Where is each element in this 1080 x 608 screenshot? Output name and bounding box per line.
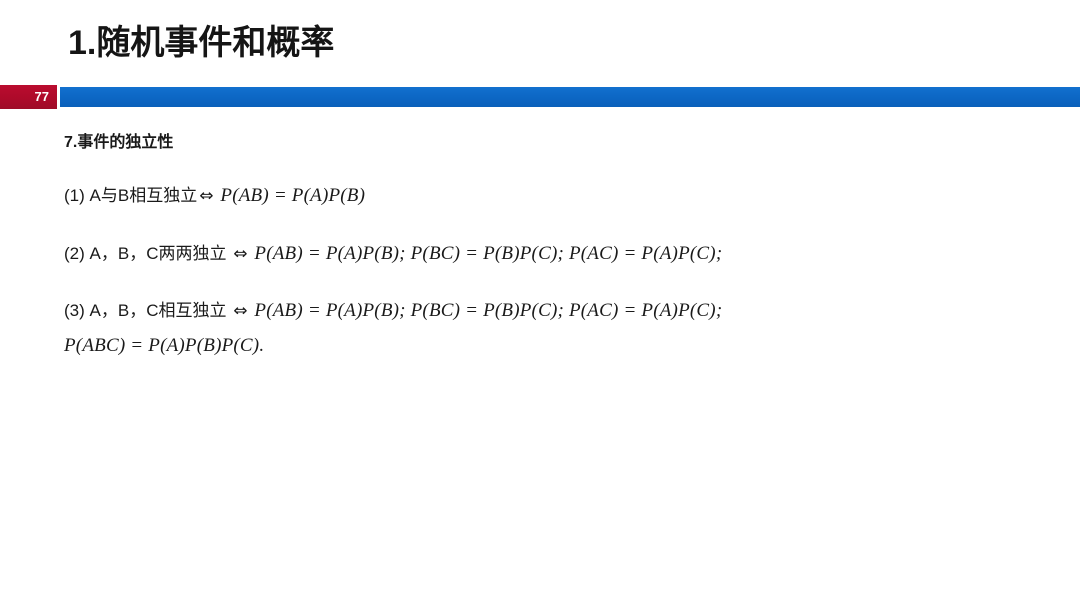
header-accent-bar xyxy=(60,87,1080,107)
rule-item-3: (3) A，B，C相互独立 ⇔ P(AB) = P(A)P(B); P(BC) … xyxy=(64,297,1060,326)
page-title: 1.随机事件和概率 xyxy=(68,22,334,65)
rule-3-continuation-formula: P(ABC) = P(A)P(B)P(C). xyxy=(64,335,264,356)
rule-3-formula: P(AB) = P(A)P(B); P(BC) = P(B)P(C); P(AC… xyxy=(254,300,722,321)
header-rule: 77 xyxy=(0,85,1080,109)
rule-item-2: (2) A，B，C两两独立 ⇔ P(AB) = P(A)P(B); P(BC) … xyxy=(64,240,1060,269)
rule-2-label: (2) xyxy=(64,244,85,263)
rule-2-formula: P(AB) = P(A)P(B); P(BC) = P(B)P(C); P(AC… xyxy=(254,243,722,264)
slide-body: 7.事件的独立性 (1) A与B相互独立⇔ P(AB) = P(A)P(B) (… xyxy=(64,132,1060,360)
iff-icon: ⇔ xyxy=(231,301,249,321)
section-heading: 7.事件的独立性 xyxy=(64,132,1060,154)
iff-icon: ⇔ xyxy=(197,186,215,206)
rule-3-continuation-line: P(ABC) = P(A)P(B)P(C). xyxy=(64,332,1060,361)
rule-2-statement: A，B，C两两独立 xyxy=(90,244,227,263)
page-number-label: 77 xyxy=(35,85,49,109)
rule-1-label: (1) xyxy=(64,186,85,205)
rule-1-statement: A与B相互独立 xyxy=(90,186,198,205)
rule-item-1: (1) A与B相互独立⇔ P(AB) = P(A)P(B) xyxy=(64,182,1060,211)
iff-icon: ⇔ xyxy=(231,244,249,264)
rule-3-label: (3) xyxy=(64,301,85,320)
page-number-badge: 77 xyxy=(0,85,57,109)
rule-1-formula: P(AB) = P(A)P(B) xyxy=(220,185,365,206)
rule-3-statement: A，B，C相互独立 xyxy=(90,301,227,320)
